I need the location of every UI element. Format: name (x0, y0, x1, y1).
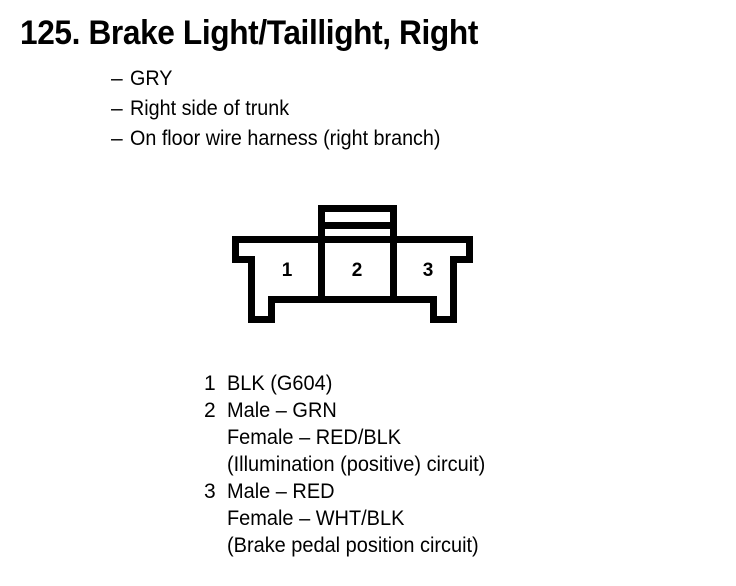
legend-pin-description: BLK (G604) (227, 370, 338, 397)
pin-number-2: 2 (352, 260, 363, 281)
page-title: 125. Brake Light/Taillight, Right (20, 14, 478, 53)
pin-number-1: 1 (282, 260, 293, 281)
legend-entry-pin-1: 1 BLK (G604) (204, 370, 499, 397)
legend-line: (Illumination (positive) circuit) (227, 451, 485, 478)
legend-pin-description: Male – GRN Female – RED/BLK (Illuminatio… (227, 397, 499, 478)
connector-diagram: 1 2 3 (225, 198, 490, 323)
legend-line: Male – GRN (227, 397, 485, 424)
legend-pin-number: 1 (204, 370, 227, 397)
legend-line: Male – RED (227, 478, 479, 505)
pin-legend: 1 BLK (G604) 2 Male – GRN Female – RED/B… (204, 370, 499, 559)
legend-line: Female – RED/BLK (227, 424, 485, 451)
legend-line: BLK (G604) (227, 370, 332, 397)
dash-icon: – (111, 94, 130, 124)
legend-pin-number: 3 (204, 478, 227, 505)
legend-pin-description: Male – RED Female – WHT/BLK (Brake pedal… (227, 478, 492, 559)
connector-outline-svg: 1 2 3 (225, 198, 490, 323)
legend-line: (Brake pedal position circuit) (227, 532, 479, 559)
legend-line: Female – WHT/BLK (227, 505, 479, 532)
legend-entry-pin-3: 3 Male – RED Female – WHT/BLK (Brake ped… (204, 478, 499, 559)
bullet-item: – GRY (111, 64, 460, 94)
legend-entry-pin-2: 2 Male – GRN Female – RED/BLK (Illuminat… (204, 397, 499, 478)
bullet-label: On floor wire harness (right branch) (130, 124, 440, 154)
pin-number-3: 3 (423, 260, 434, 281)
bullet-label: GRY (130, 64, 172, 94)
legend-pin-number: 2 (204, 397, 227, 424)
bullet-label: Right side of trunk (130, 94, 289, 124)
dash-icon: – (111, 124, 130, 154)
description-bullet-list: – GRY – Right side of trunk – On floor w… (111, 64, 460, 154)
dash-icon: – (111, 64, 130, 94)
bullet-item: – On floor wire harness (right branch) (111, 124, 460, 154)
bullet-item: – Right side of trunk (111, 94, 460, 124)
